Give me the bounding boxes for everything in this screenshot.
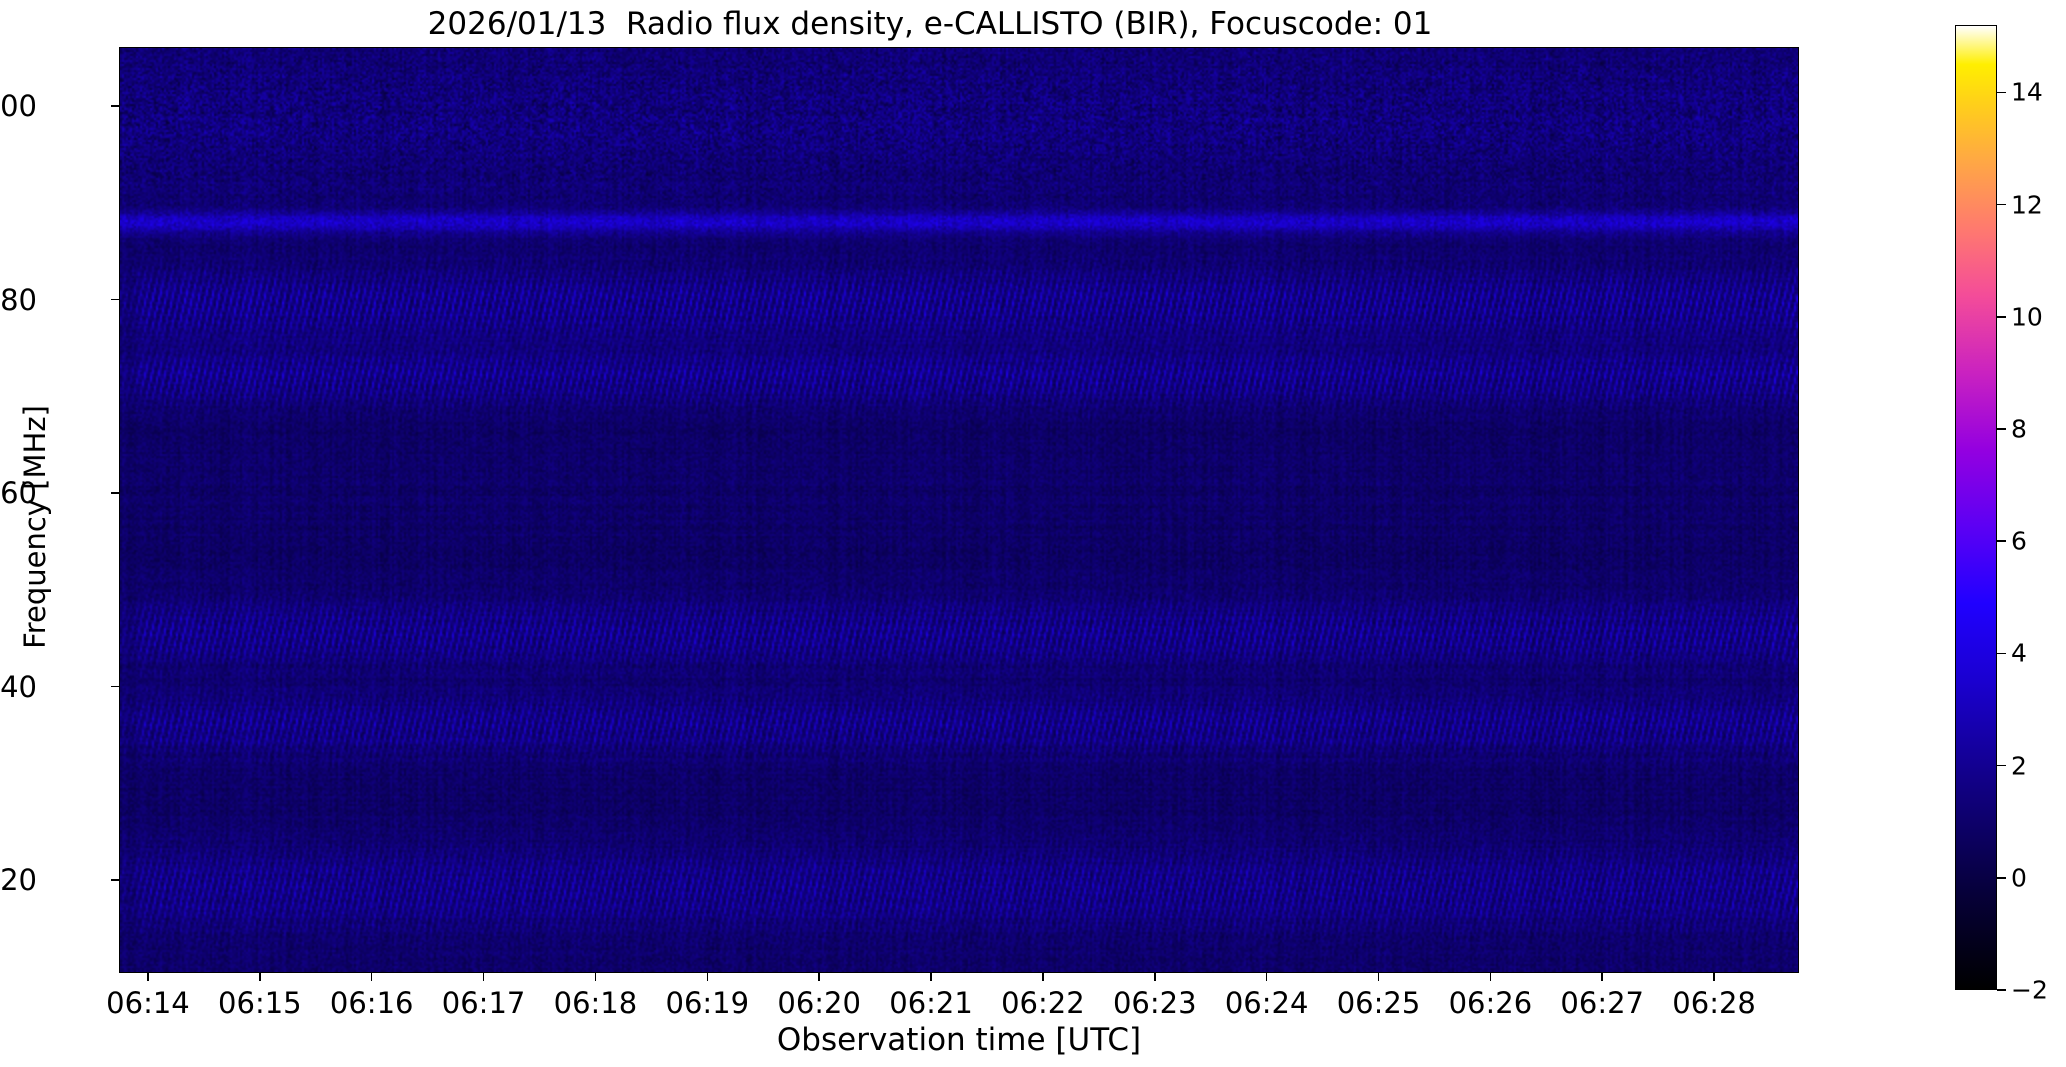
colorbar-tick-mark — [1997, 653, 2006, 655]
x-tick-mark — [483, 972, 485, 981]
colorbar-tick-label: 14 — [2011, 78, 2043, 107]
colorbar-tick-mark — [1997, 540, 2006, 542]
y-tick-mark — [111, 686, 120, 688]
y-tick-label: 100 — [0, 89, 37, 123]
spectrogram-image[interactable] — [120, 48, 1798, 972]
x-tick-label: 06:20 — [777, 986, 861, 1020]
colorbar-tick-label: 0 — [2011, 863, 2027, 892]
colorbar-tick-mark — [1997, 989, 2006, 991]
colorbar-tick-mark — [1997, 92, 2006, 94]
x-tick-label: 06:16 — [330, 986, 414, 1020]
x-tick-mark — [259, 972, 261, 981]
colorbar-tick-label: 2 — [2011, 751, 2027, 780]
colorbar-tick-label: 8 — [2011, 414, 2027, 443]
x-tick-mark — [930, 972, 932, 981]
x-tick-label: 06:22 — [1001, 986, 1085, 1020]
colorbar-tick-mark — [1997, 316, 2006, 318]
x-tick-mark — [595, 972, 597, 981]
x-tick-label: 06:24 — [1225, 986, 1309, 1020]
y-tick-label: 20 — [0, 863, 37, 897]
x-tick-label: 06:21 — [889, 986, 973, 1020]
y-tick-mark — [111, 105, 120, 107]
x-tick-label: 06:27 — [1560, 986, 1644, 1020]
colorbar-gradient — [1956, 26, 1996, 989]
x-tick-mark — [1490, 972, 1492, 981]
spectrogram-figure: 2026/01/13 Radio flux density, e-CALLIST… — [0, 0, 2066, 1067]
x-tick-label: 06:25 — [1337, 986, 1421, 1020]
x-tick-mark — [1042, 972, 1044, 981]
x-tick-mark — [371, 972, 373, 981]
figure-title: 2026/01/13 Radio flux density, e-CALLIST… — [0, 6, 1860, 42]
x-tick-mark — [1266, 972, 1268, 981]
colorbar-tick-mark — [1997, 428, 2006, 430]
y-tick-label: 80 — [0, 283, 37, 317]
y-tick-mark — [111, 299, 120, 301]
x-tick-mark — [707, 972, 709, 981]
x-tick-label: 06:26 — [1449, 986, 1533, 1020]
x-tick-label: 06:17 — [442, 986, 526, 1020]
x-tick-mark — [1713, 972, 1715, 981]
y-tick-mark — [111, 879, 120, 881]
x-tick-mark — [147, 972, 149, 981]
colorbar-tick-label: −2 — [2011, 976, 2048, 1005]
colorbar-tick-label: 12 — [2011, 190, 2043, 219]
x-tick-label: 06:15 — [218, 986, 302, 1020]
x-axis-label: Observation time [UTC] — [120, 1022, 1798, 1058]
y-axis-label: Frequency [MHz] — [18, 317, 52, 737]
x-tick-label: 06:23 — [1113, 986, 1197, 1020]
x-tick-mark — [1601, 972, 1603, 981]
x-tick-mark — [818, 972, 820, 981]
x-tick-label: 06:18 — [554, 986, 638, 1020]
colorbar[interactable] — [1955, 25, 1997, 990]
y-tick-mark — [111, 492, 120, 494]
x-tick-mark — [1154, 972, 1156, 981]
spectrogram-axes[interactable] — [119, 47, 1799, 973]
x-tick-label: 06:28 — [1672, 986, 1756, 1020]
colorbar-tick-mark — [1997, 877, 2006, 879]
x-tick-mark — [1378, 972, 1380, 981]
colorbar-tick-label: 6 — [2011, 527, 2027, 556]
colorbar-tick-mark — [1997, 765, 2006, 767]
colorbar-tick-mark — [1997, 204, 2006, 206]
x-tick-label: 06:14 — [106, 986, 190, 1020]
colorbar-tick-label: 4 — [2011, 639, 2027, 668]
colorbar-tick-label: 10 — [2011, 302, 2043, 331]
x-tick-label: 06:19 — [666, 986, 750, 1020]
